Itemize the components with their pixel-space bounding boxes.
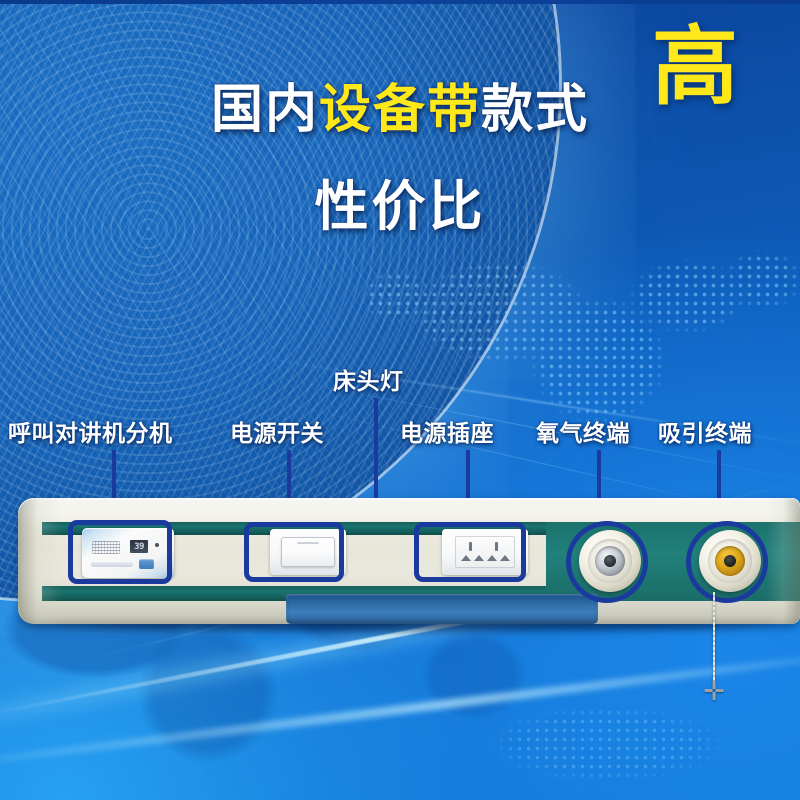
power-socket-face	[455, 536, 515, 568]
panel-end-cap-right	[766, 498, 800, 624]
suction-terminal[interactable]	[699, 530, 761, 592]
suction-port-core	[715, 546, 745, 576]
intercom-call-button[interactable]	[139, 559, 154, 569]
callout-label-socket: 电源插座	[400, 414, 494, 448]
callout-label-oxygen: 氧气终端	[536, 414, 630, 448]
socket-pin-right-top	[495, 542, 498, 551]
intercom-label-strip	[91, 561, 133, 567]
socket-pin-1	[461, 555, 471, 561]
nurse-call-intercom[interactable]: 39	[82, 528, 174, 578]
pull-cord-handle[interactable]: ✛	[702, 678, 726, 704]
socket-pin-left-top	[469, 542, 472, 551]
power-switch-rocker[interactable]	[281, 537, 335, 567]
bedhead-panel: 39	[18, 498, 800, 638]
headline-big-word: 高	[652, 24, 738, 110]
intercom-indicator-led	[155, 543, 159, 547]
panel-body: 39	[18, 498, 800, 624]
intercom-display: 39	[130, 540, 148, 553]
socket-pin-4	[500, 555, 510, 561]
callout-label-intercom: 呼叫对讲机分机	[8, 414, 173, 448]
bed-lamp-diffuser[interactable]	[286, 594, 598, 624]
power-switch[interactable]	[270, 529, 346, 575]
headline-line1-part1: 国内	[211, 81, 319, 139]
suction-port-hole	[724, 555, 736, 567]
banner-canvas: 国内设备带款式 性价比 高 呼叫对讲机分机 电源开关 床头灯 电源插座 氧气终端…	[0, 0, 800, 800]
top-edge-bar	[0, 0, 800, 4]
intercom-speaker-grille-icon	[92, 541, 120, 554]
socket-pin-3	[487, 555, 497, 561]
oxygen-port-core	[595, 546, 625, 576]
headline-line1-part2: 款式	[481, 81, 589, 139]
socket-pin-2	[474, 555, 484, 561]
oxygen-port-hole	[604, 555, 616, 567]
panel-end-cap-left	[18, 498, 62, 624]
headline-line1-accent: 设备带	[319, 81, 481, 139]
oxygen-terminal[interactable]	[579, 530, 641, 592]
callout-label-bed-lamp: 床头灯	[333, 362, 404, 396]
power-socket[interactable]	[442, 529, 528, 575]
callout-label-suction: 吸引终端	[658, 414, 752, 448]
panel-top-sheen	[18, 498, 800, 522]
headline-line-2: 性价比	[0, 162, 800, 241]
callout-label-power-switch: 电源开关	[230, 414, 324, 448]
lamp-pull-cord[interactable]	[713, 592, 715, 684]
